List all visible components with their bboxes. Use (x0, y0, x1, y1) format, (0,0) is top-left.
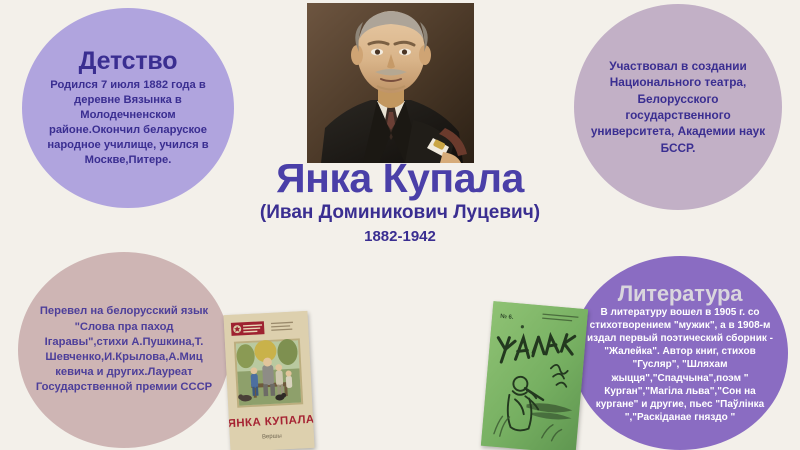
book-cover-zhaleika: № 6. (481, 301, 588, 450)
portrait-illustration (293, 0, 488, 163)
bubble-childhood-heading: Детство (79, 48, 178, 74)
book-zhaleika-illustration: № 6. (481, 301, 588, 450)
bubble-institutions-body: Участвовал в создании Национального теат… (584, 58, 772, 156)
book-cover-yanka-kupala: ЯНКА КУПАЛА Вершы (223, 311, 314, 450)
bubble-literature-body: В литературу вошел в 1905 г. со стихотво… (582, 306, 778, 425)
bubble-translations-body: Перевел на белорусский язык "Слова пра п… (28, 304, 220, 395)
page-subtitle: (Иван Доминикович Луцевич) (0, 203, 800, 224)
slide-canvas: Янка Купала (Иван Доминикович Луцевич) 1… (0, 0, 800, 450)
bubble-translations: Перевел на белорусский язык "Слова пра п… (18, 252, 230, 448)
book-yanka-kupala-illustration: ЯНКА КУПАЛА Вершы (223, 311, 314, 450)
title-block: Янка Купала (Иван Доминикович Луцевич) 1… (0, 158, 800, 245)
bubble-literature: Литература В литературу вошел в 1905 г. … (572, 256, 788, 450)
bubble-childhood-body: Родился 7 июля 1882 года в деревне Вязын… (32, 78, 224, 168)
page-title: Янка Купала (0, 158, 800, 199)
bubble-literature-heading: Литература (618, 282, 743, 305)
svg-text:№ 6.: № 6. (500, 313, 514, 321)
portrait-image (293, 0, 488, 163)
svg-text:Вершы: Вершы (262, 433, 282, 440)
life-years: 1882-1942 (0, 228, 800, 245)
